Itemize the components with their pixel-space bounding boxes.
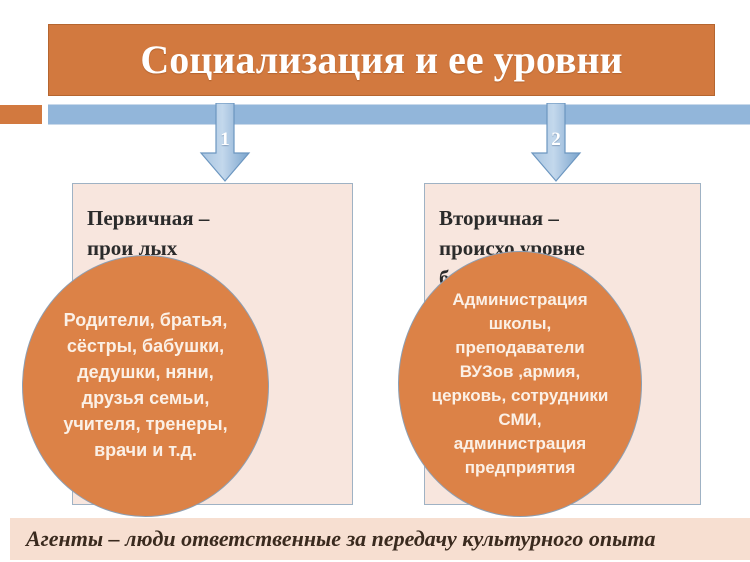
slide-canvas: Социализация и ее уровни 1 [0,0,750,562]
orange-accent-tab [0,105,42,124]
arrow-two-label: 2 [526,129,586,151]
arrow-one-label: 1 [195,129,255,151]
footer-caption: Агенты – люди ответственные за передачу … [26,526,655,552]
agents-secondary-list: Администрация школы, преподаватели ВУЗов… [426,288,615,481]
footer-banner: Агенты – люди ответственные за передачу … [10,518,750,560]
down-arrow-icon-two: 2 [526,103,586,183]
page-title: Социализация и ее уровни [140,40,622,80]
level-primary-description: Первичная – прои лых [87,204,338,264]
agents-ellipse-primary: Родители, братья, сёстры, бабушки, дедуш… [22,255,269,517]
agents-primary-list: Родители, братья, сёстры, бабушки, дедуш… [47,308,243,463]
blue-accent-band [48,104,750,125]
slide-title-bar: Социализация и ее уровни [48,24,715,96]
down-arrow-icon-one: 1 [195,103,255,183]
agents-ellipse-secondary: Администрация школы, преподаватели ВУЗов… [398,251,642,517]
